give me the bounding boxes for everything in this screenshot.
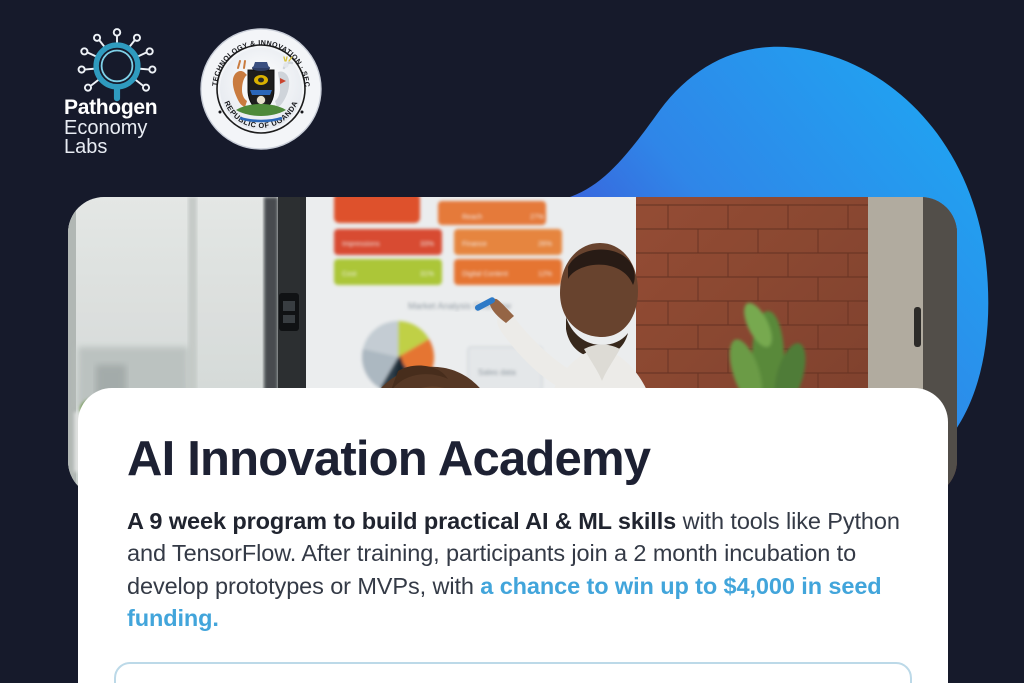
description-lead: A 9 week program to build practical AI &… bbox=[127, 508, 676, 534]
uganda-coat-of-arms-seal-icon: SCIENCE, TECHNOLOGY & INNOVATION · SECRE… bbox=[200, 28, 322, 150]
pathogen-economy-labs-wordmark: Pathogen Economy Labs bbox=[62, 98, 172, 158]
pathogen-virus-magnifier-icon bbox=[71, 26, 163, 104]
logo-line-3: Labs bbox=[64, 138, 172, 158]
page-title: AI Innovation Academy bbox=[127, 434, 900, 485]
program-description: A 9 week program to build practical AI &… bbox=[127, 505, 900, 635]
logo-line-1: Pathogen bbox=[64, 98, 172, 119]
logo-row: Pathogen Economy Labs SCIENCE, TECHNOLO bbox=[62, 26, 322, 158]
pathogen-economy-labs-logo: Pathogen Economy Labs bbox=[62, 26, 172, 158]
cta-field[interactable] bbox=[114, 662, 912, 683]
poster-root: Pathogen Economy Labs SCIENCE, TECHNOLO bbox=[0, 0, 1024, 683]
content-card: AI Innovation Academy A 9 week program t… bbox=[78, 388, 948, 683]
